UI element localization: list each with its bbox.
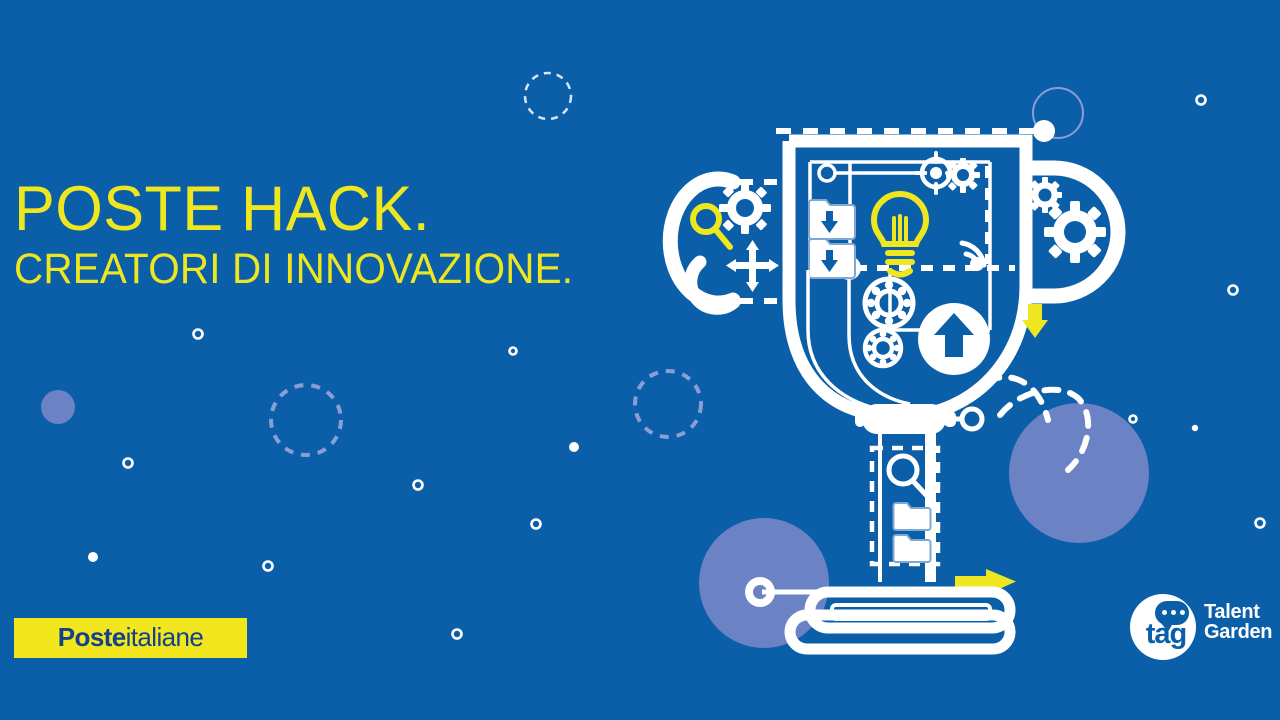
gear-icon-left [719,182,771,234]
ellipsis-dots-icon [1162,610,1185,615]
headline-block: POSTE HACK. CREATORI DI INNOVAZIONE. [14,178,609,292]
move-arrows-icon [726,240,779,292]
poste-logo-light: italiane [126,622,204,652]
talent-garden-line2: Garden [1204,622,1272,642]
folder-icon-2 [894,535,931,562]
bearing-ring-icon-2 [865,330,901,366]
talent-garden-line1: Talent [1204,602,1272,622]
tag-wordmark: tag [1136,620,1196,649]
tag-circle-mark: tag [1130,594,1196,660]
folder-icon-1 [894,503,931,530]
poste-logo-bold: Poste [58,622,126,652]
page-title: POSTE HACK. [14,178,591,241]
folder-download-icon-1 [809,200,855,239]
gear-icon-right-large [1044,201,1106,263]
poste-logo-text: Posteitaliane [58,624,203,650]
gear-icon-small-top [946,158,980,193]
talent-garden-name: Talent Garden [1204,602,1272,642]
slide-canvas: POSTE HACK. CREATORI DI INNOVAZIONE. Pos… [0,0,1280,720]
cup-node-line [819,165,927,181]
left-handle-hook [691,262,734,308]
connector-node-top [1033,120,1055,142]
lightbulb-icon [874,194,926,275]
cup-base [790,592,1010,649]
cup-stem-joint [855,404,982,434]
talent-garden-logo[interactable]: tag Talent Garden [1130,592,1266,664]
dashed-swoop-right [986,377,1088,470]
upload-arrow-icon [918,303,990,375]
magnifier-icon-white [889,456,927,496]
poste-italiane-logo[interactable]: Posteitaliane [14,618,247,658]
gear-icon-right-small [1028,177,1062,213]
page-subtitle: CREATORI DI INNOVAZIONE. [14,247,573,292]
trophy-illustration [0,0,1280,720]
folder-download-icon-2 [809,239,855,278]
